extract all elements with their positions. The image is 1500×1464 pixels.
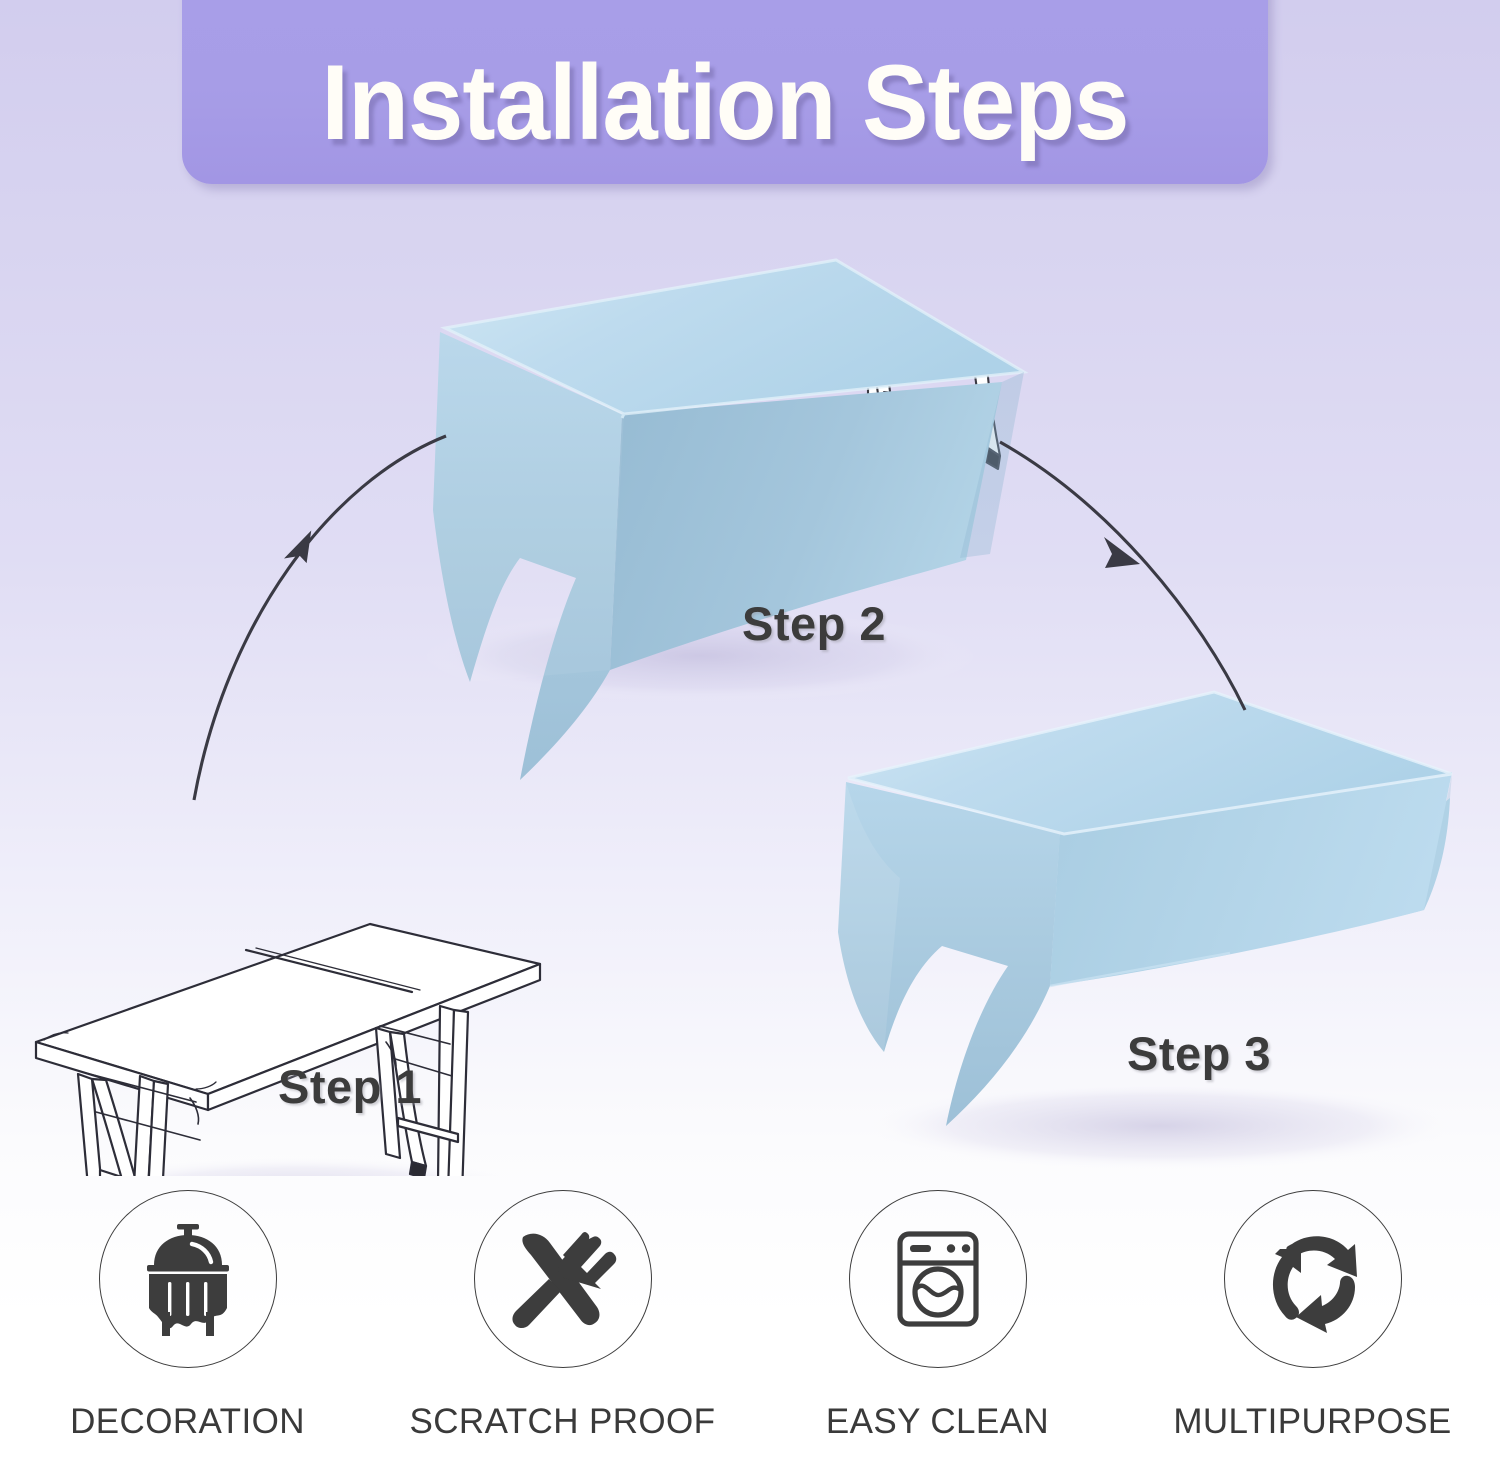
arrow-step2-to-step3 [1000, 442, 1245, 710]
feature-easy-clean-label: EASY CLEAN [826, 1402, 1049, 1442]
feature-scratch-proof: SCRATCH PROOF [375, 1190, 750, 1464]
step-2-label: Step 2 [742, 600, 886, 647]
feature-easy-clean: EASY CLEAN [750, 1190, 1125, 1464]
feature-decoration-circle [99, 1190, 277, 1368]
step-3-illustration [838, 692, 1460, 1170]
washing-machine-icon [881, 1222, 995, 1336]
arrow-step1-to-step2 [194, 436, 446, 800]
feature-multipurpose: MULTIPURPOSE [1125, 1190, 1500, 1464]
feature-decoration: DECORATION [0, 1190, 375, 1464]
installation-steps-diagram [0, 186, 1500, 1176]
feature-scratch-proof-circle [474, 1190, 652, 1368]
feature-easy-clean-circle [849, 1190, 1027, 1368]
feature-decoration-label: DECORATION [70, 1402, 305, 1442]
header-banner: Installation Steps [182, 0, 1268, 184]
infographic-page: Installation Steps [0, 0, 1500, 1464]
feature-scratch-proof-label: SCRATCH PROOF [410, 1402, 716, 1442]
feature-multipurpose-circle [1224, 1190, 1402, 1368]
step-1-illustration [36, 924, 550, 1176]
feature-multipurpose-label: MULTIPURPOSE [1173, 1402, 1451, 1442]
step-1-label: Step 1 [278, 1063, 422, 1110]
step-2-illustration [420, 260, 1024, 780]
crossed-knife-and-fork-icon [505, 1221, 621, 1337]
recycle-arrows-icon [1255, 1221, 1371, 1337]
arrowhead-up [281, 531, 314, 566]
tablecloth-with-cloche-icon [129, 1220, 247, 1338]
page-title: Installation Steps [321, 49, 1128, 184]
step-3-label: Step 3 [1127, 1030, 1271, 1077]
feature-icons-row: DECORATION SCRATCH PROOF [0, 1190, 1500, 1464]
